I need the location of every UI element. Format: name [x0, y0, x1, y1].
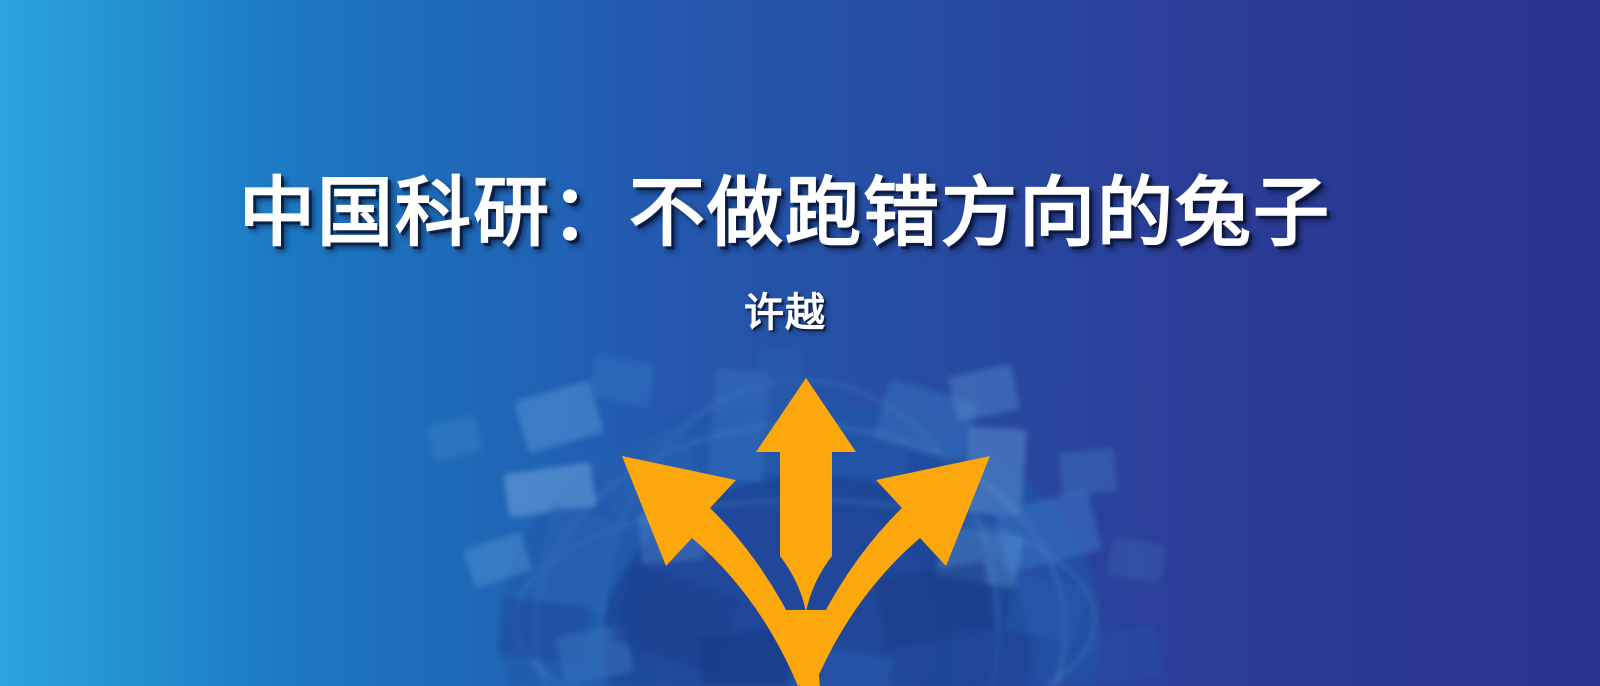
three-way-arrow-icon [560, 360, 1040, 686]
blurred-blue-rectangle-burst [0, 330, 1600, 686]
slide-subtitle-author: 许越 [0, 291, 1570, 335]
three-way-branching-arrow-graphic [560, 360, 1040, 686]
title-slide: 中国科研：不做跑错方向的兔子 许越 [0, 0, 1600, 686]
page-title: 中国科研：不做跑错方向的兔子 [0, 174, 1570, 254]
background-decoration [0, 330, 1600, 686]
